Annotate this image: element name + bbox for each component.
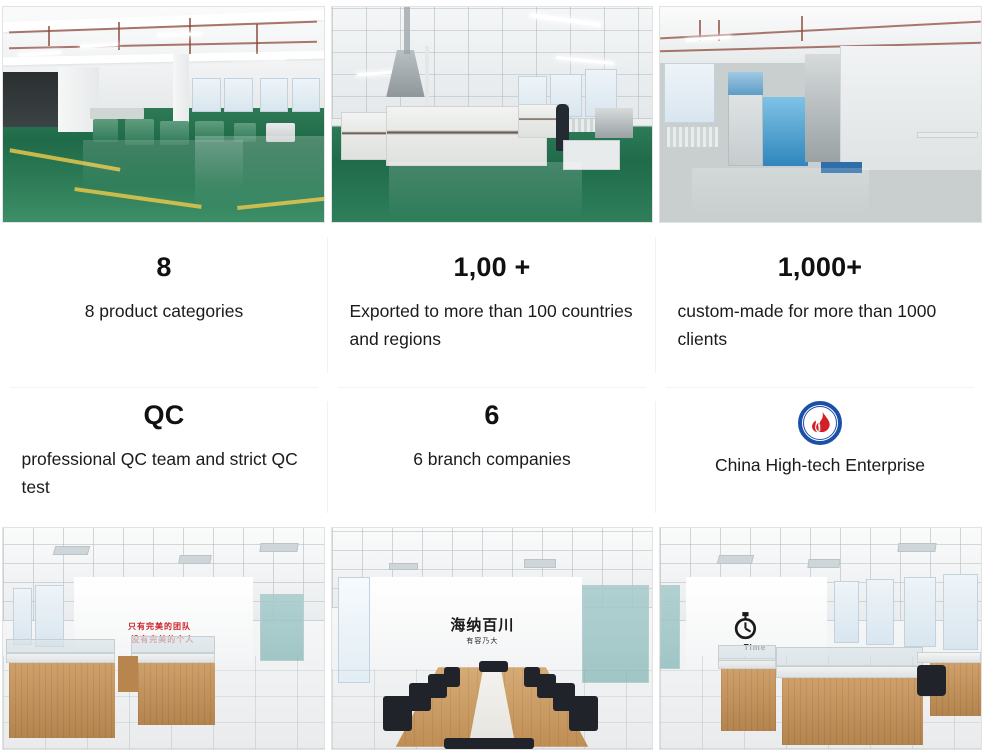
company-profile-infographic: 8 8 product categories 1,00 + Exported t… xyxy=(0,0,984,750)
pipe-drop xyxy=(189,18,191,55)
top-photo-row xyxy=(0,0,984,223)
stat-number: QC xyxy=(144,401,185,431)
window xyxy=(338,577,370,683)
conference-room-photo: 海纳百川 有容乃大 xyxy=(331,527,654,750)
factory-production-workshop-photo xyxy=(2,6,325,223)
desk-glass-screen xyxy=(776,647,924,667)
wall-slogan-line1: 只有完美的团队 xyxy=(128,621,191,632)
ceiling-lamp xyxy=(807,559,840,568)
machine-top xyxy=(90,108,145,119)
glass-partition xyxy=(260,594,305,660)
stat-number: 6 xyxy=(484,401,499,431)
open-office-workstations-photo: 只有完美的团队 没有完美的个人 xyxy=(2,527,325,750)
stat-number: 1,00 + xyxy=(453,253,530,283)
workstation-top xyxy=(917,652,981,663)
ceiling-vent xyxy=(524,559,556,568)
support-column xyxy=(173,54,189,127)
stat-description: China High-tech Enterprise xyxy=(715,455,925,476)
ceiling-lamp xyxy=(717,555,754,564)
window xyxy=(292,78,321,112)
dark-doorway xyxy=(3,72,58,128)
pipe-drop xyxy=(118,22,120,50)
chair xyxy=(444,738,534,749)
stopwatch-icon xyxy=(731,610,760,641)
ceiling-lamp xyxy=(259,543,299,552)
stat-description: 6 branch companies xyxy=(413,445,571,473)
floor-reflection xyxy=(389,162,581,218)
radiator xyxy=(667,127,718,146)
stat-description: professional QC team and strict QC test xyxy=(22,445,307,502)
calligraphy-subtitle: 有容乃大 xyxy=(466,636,498,646)
high-tech-badge: China High-tech Enterprise xyxy=(715,401,925,476)
ceiling-vent xyxy=(389,563,418,570)
window xyxy=(834,581,860,643)
sales-office-photo: Time xyxy=(659,527,982,750)
workstation-desk xyxy=(782,678,923,744)
stat-number: 8 xyxy=(156,253,171,283)
side-table xyxy=(917,132,978,138)
office-chair xyxy=(917,665,946,696)
stat-description: custom-made for more than 1000 clients xyxy=(678,297,963,354)
workstation-desk xyxy=(138,663,215,725)
ceiling-lamp xyxy=(53,546,91,555)
stat-number: 1,000+ xyxy=(778,253,863,283)
reflow-oven-production-line-photo xyxy=(331,6,654,223)
display-unit xyxy=(728,72,763,96)
window xyxy=(260,78,289,112)
window xyxy=(224,78,253,112)
test-machine-column xyxy=(805,54,840,162)
window xyxy=(664,63,715,123)
stat-cell-export-countries: 1,00 + Exported to more than 100 countri… xyxy=(328,223,656,387)
desk-glass-screen xyxy=(718,645,776,660)
window xyxy=(192,78,221,112)
logo-flame-icon xyxy=(809,411,831,435)
ceiling-lamp xyxy=(897,543,937,552)
glass-partition xyxy=(582,585,649,682)
bottom-photo-row: 只有完美的团队 没有完美的个人 海纳百川 有容乃大 xyxy=(0,527,984,750)
company-stats-grid: 8 8 product categories 1,00 + Exported t… xyxy=(0,223,984,527)
calligraphy-wall-art: 海纳百川 xyxy=(450,614,514,635)
exhaust-duct xyxy=(404,7,410,54)
desk-glass-screen xyxy=(6,639,115,654)
pipe-drop xyxy=(48,26,50,45)
pipe-drop xyxy=(256,24,258,54)
machine-unit xyxy=(595,108,633,138)
control-cabinet xyxy=(728,93,763,166)
chair xyxy=(569,696,598,731)
pipe-drop xyxy=(801,16,803,42)
chair xyxy=(444,667,460,687)
desk-side xyxy=(118,656,137,691)
stat-cell-high-tech-enterprise: China High-tech Enterprise xyxy=(656,387,984,527)
stat-description: Exported to more than 100 countries and … xyxy=(350,297,635,354)
desk-glass-screen xyxy=(131,636,214,654)
stat-cell-custom-made-clients: 1,000+ custom-made for more than 1000 cl… xyxy=(656,223,984,387)
stat-cell-product-categories: 8 8 product categories xyxy=(0,223,328,387)
floor-reflection xyxy=(195,136,323,209)
window xyxy=(943,574,978,649)
ceiling-lamp xyxy=(179,555,213,564)
window xyxy=(904,577,936,648)
testing-equipment-room-photo xyxy=(659,6,982,223)
chair xyxy=(383,696,412,731)
china-high-tech-enterprise-logo-icon xyxy=(798,401,842,445)
workstation-desk xyxy=(9,663,115,738)
insulated-panel-wall xyxy=(840,46,981,171)
test-chamber xyxy=(763,97,808,166)
floor-marking xyxy=(74,187,202,209)
chair xyxy=(479,661,508,672)
workstation-desk xyxy=(721,669,776,731)
radiator xyxy=(569,119,595,132)
stat-description: 8 product categories xyxy=(85,297,244,325)
window xyxy=(866,579,895,645)
stat-cell-qc-team: QC professional QC team and strict QC te… xyxy=(0,387,328,527)
floor-reflection xyxy=(692,168,868,215)
window xyxy=(13,588,32,645)
production-machine xyxy=(93,119,119,143)
stat-cell-branch-companies: 6 6 branch companies xyxy=(328,387,656,527)
